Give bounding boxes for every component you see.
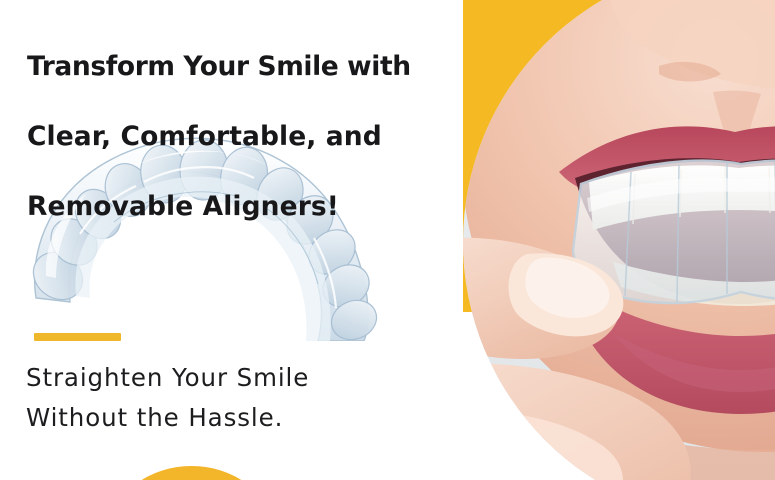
subheadline: Straighten Your Smile Without the Hassle… xyxy=(26,358,456,438)
subheadline-line-2: Without the Hassle. xyxy=(26,398,456,438)
yellow-divider-rule xyxy=(34,333,121,341)
headline-line-2: Clear, Comfortable, and xyxy=(27,119,492,154)
promo-banner: Transform Your Smile with Clear, Comfort… xyxy=(0,0,775,480)
headline: Transform Your Smile with Clear, Comfort… xyxy=(27,14,492,259)
headline-line-1: Transform Your Smile with xyxy=(27,49,492,84)
subheadline-line-1: Straighten Your Smile xyxy=(26,358,456,398)
headline-line-3: Removable Aligners! xyxy=(27,189,492,224)
